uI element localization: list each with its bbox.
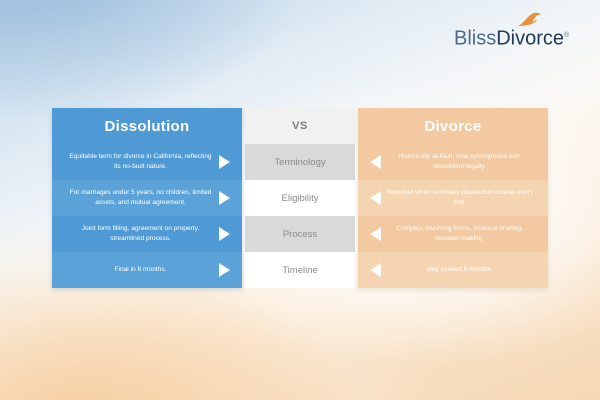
registered-mark: ® [564,32,569,39]
header-divorce: Divorce [358,108,548,144]
triangle-left-icon [370,227,381,241]
logo-text-divorce: Divorce [496,28,564,50]
triangle-left-icon [370,263,381,277]
table-row: Required when summary dissolution criter… [358,180,548,216]
column-criteria: VS Terminology Eligibility Process Timel… [245,108,355,288]
column-divorce: Divorce Historically at-fault, now synon… [358,108,548,288]
cell-left-timeline: Final in 6 months. [62,265,219,275]
table-row: Joint form filling, agreement on propert… [52,216,242,252]
table-row: May exceed 6 months. [358,252,548,288]
table-row: Complex, involving forms, financial shar… [358,216,548,252]
triangle-right-icon [219,227,230,241]
triangle-right-icon [219,155,230,169]
cell-right-timeline: May exceed 6 months. [381,265,538,275]
triangle-left-icon [370,191,381,205]
table-row: Final in 6 months. [52,252,242,288]
brand-logo: BlissDivorce® [454,12,586,52]
table-row: Historically at-fault, now synonymous wi… [358,144,548,180]
triangle-right-icon [219,263,230,277]
cell-left-process: Joint form filling, agreement on propert… [62,224,219,243]
cell-right-eligibility: Required when summary dissolution criter… [381,188,538,207]
cell-right-process: Complex, involving forms, financial shar… [381,224,538,243]
cell-left-terminology: Equitable term for divorce in California… [62,152,219,171]
column-dissolution: Dissolution Equitable term for divorce i… [52,108,242,288]
criteria-label-terminology: Terminology [245,144,355,180]
triangle-right-icon [219,191,230,205]
infographic-canvas: BlissDivorce® Dissolution Equitable term… [0,0,600,400]
table-row: Equitable term for divorce in California… [52,144,242,180]
table-row: For marriages under 5 years, no children… [52,180,242,216]
cell-right-terminology: Historically at-fault, now synonymous wi… [381,152,538,171]
criteria-label-process: Process [245,216,355,252]
header-vs: VS [245,108,355,144]
triangle-left-icon [370,155,381,169]
criteria-label-timeline: Timeline [245,252,355,288]
logo-wordmark: BlissDivorce® [454,24,586,51]
header-dissolution: Dissolution [52,108,242,144]
logo-text-bliss: Bliss [454,28,496,50]
cell-left-eligibility: For marriages under 5 years, no children… [62,188,219,207]
criteria-label-eligibility: Eligibility [245,180,355,216]
comparison-table: Dissolution Equitable term for divorce i… [52,108,548,288]
